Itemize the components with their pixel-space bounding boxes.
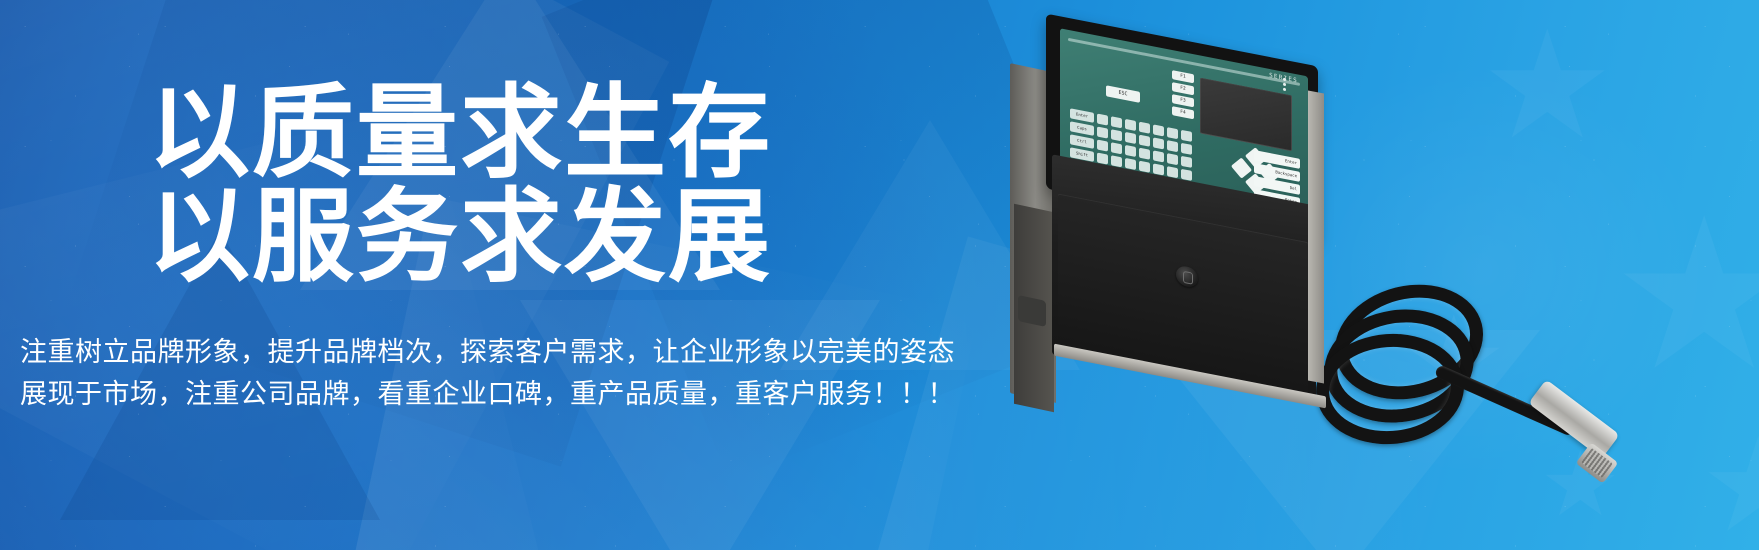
key[interactable] <box>1181 130 1192 142</box>
key-f1[interactable]: F1 <box>1172 70 1194 83</box>
key-f3[interactable]: F3 <box>1172 94 1194 107</box>
key[interactable] <box>1167 140 1178 152</box>
function-key-group[interactable]: F1 F2 F3 F4 <box>1172 70 1194 119</box>
key[interactable] <box>1153 137 1164 149</box>
print-head <box>1528 404 1628 490</box>
key-enter[interactable]: Enter <box>1070 108 1094 123</box>
key[interactable] <box>1181 143 1192 155</box>
key[interactable] <box>1111 116 1122 128</box>
key-caps[interactable]: Caps <box>1070 121 1094 136</box>
subcopy-line-1: 注重树立品牌形象，提升品牌档次，探索客户需求，让企业形象以完美的姿态 <box>20 332 980 374</box>
key[interactable] <box>1097 113 1108 125</box>
promo-banner: ★ ★ ★ ★ ★ 以质量求生存 以服务求发展 注重树立品牌形象，提升品牌档次，… <box>0 0 1759 550</box>
key-f4[interactable]: F4 <box>1172 106 1194 119</box>
key[interactable] <box>1125 132 1136 144</box>
print-head-body <box>1528 379 1620 458</box>
subcopy-line-2: 展现于市场，注重公司品牌，看重企业口碑，重产品质量，重客户服务！！！ <box>20 374 980 416</box>
key[interactable] <box>1097 139 1108 151</box>
key[interactable] <box>1125 119 1136 131</box>
key[interactable] <box>1139 148 1150 160</box>
key[interactable] <box>1167 127 1178 139</box>
lock-icon <box>1176 264 1198 288</box>
key[interactable] <box>1181 156 1192 168</box>
inkjet-printer-product: SERIES F1 F2 F3 F4 ESC <box>1010 40 1350 460</box>
subcopy: 注重树立品牌形象，提升品牌档次，探索客户需求，让企业形象以完美的姿态 展现于市场… <box>20 332 980 416</box>
copy-block: 以质量求生存 以服务求发展 注重树立品牌形象，提升品牌档次，探索客户需求，让企业… <box>0 0 1000 550</box>
key[interactable] <box>1139 135 1150 147</box>
key[interactable] <box>1125 145 1136 157</box>
key[interactable] <box>1111 129 1122 141</box>
key[interactable] <box>1139 122 1150 134</box>
key[interactable] <box>1111 142 1122 154</box>
key[interactable] <box>1153 150 1164 162</box>
headline-line-2: 以服务求发展 <box>148 186 968 290</box>
key-ctrl[interactable]: Ctrl <box>1070 134 1094 149</box>
indicator-dots-icon <box>1283 78 1286 92</box>
headline-line-1: 以质量求生存 <box>148 74 772 193</box>
printer-umbilical-hose <box>1310 276 1630 526</box>
key[interactable] <box>1097 126 1108 138</box>
key-esc[interactable]: ESC <box>1106 85 1140 103</box>
key[interactable] <box>1153 124 1164 136</box>
printer-edge-trim <box>1308 90 1324 383</box>
print-head-nozzle <box>1576 442 1619 483</box>
key[interactable] <box>1167 153 1178 165</box>
key-f2[interactable]: F2 <box>1172 82 1194 95</box>
headline: 以质量求生存 以服务求发展 <box>148 82 968 290</box>
